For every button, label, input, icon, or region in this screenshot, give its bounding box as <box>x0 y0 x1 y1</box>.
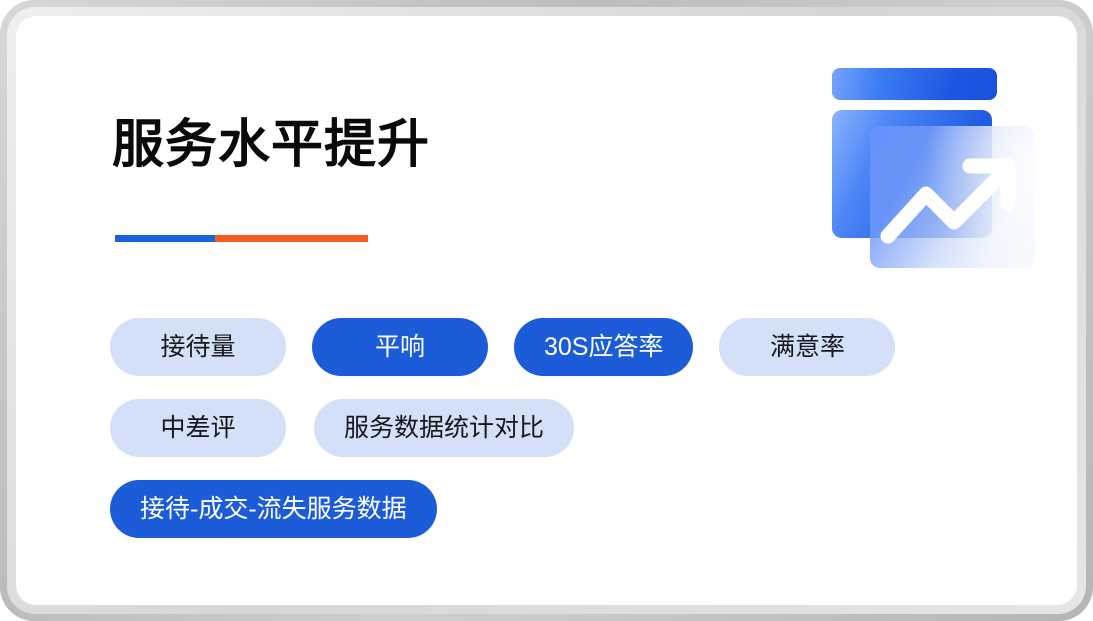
slide-outer-frame: 服务水平提升 接待量 <box>0 0 1093 621</box>
title-accent-rule <box>115 235 368 242</box>
growth-chart-card-icon <box>812 48 1052 248</box>
tag-pill-satisfaction-rate[interactable]: 满意率 <box>719 318 895 376</box>
trend-arrow-icon <box>870 126 1035 268</box>
tag-pill-label: 接待量 <box>160 335 235 360</box>
tag-pill-30s-response-rate[interactable]: 30S应答率 <box>514 318 693 376</box>
tag-pill-label: 平响 <box>375 335 425 360</box>
icon-card-topbar <box>832 68 997 100</box>
page-title: 服务水平提升 <box>112 114 430 176</box>
slide-canvas: 服务水平提升 接待量 <box>16 16 1077 605</box>
tag-pill-row-1: 接待量 平响 30S应答率 满意率 <box>110 318 1010 376</box>
tag-pill-label: 接待-成交-流失服务数据 <box>140 497 407 522</box>
tag-pill-zhongchaping[interactable]: 中差评 <box>110 399 286 457</box>
tag-pill-label: 中差评 <box>160 416 235 441</box>
tag-pill-label: 30S应答率 <box>544 335 663 360</box>
tag-pill-row-2: 中差评 服务数据统计对比 <box>110 399 1010 457</box>
tag-pill-label: 满意率 <box>770 335 845 360</box>
icon-glass-panel <box>870 126 1035 268</box>
tag-pill-groups: 接待量 平响 30S应答率 满意率 中差评 服务数据统计对比 <box>110 318 1010 561</box>
accent-segment-blue <box>115 235 215 242</box>
tag-pill-jiedailiang[interactable]: 接待量 <box>110 318 286 376</box>
tag-pill-reception-deal-loss-service-data[interactable]: 接待-成交-流失服务数据 <box>110 480 437 538</box>
tag-pill-row-3: 接待-成交-流失服务数据 <box>110 480 1010 538</box>
tag-pill-service-data-comparison[interactable]: 服务数据统计对比 <box>314 399 574 457</box>
accent-segment-orange <box>215 235 368 242</box>
tag-pill-pingxiang[interactable]: 平响 <box>312 318 488 376</box>
tag-pill-label: 服务数据统计对比 <box>344 416 544 441</box>
